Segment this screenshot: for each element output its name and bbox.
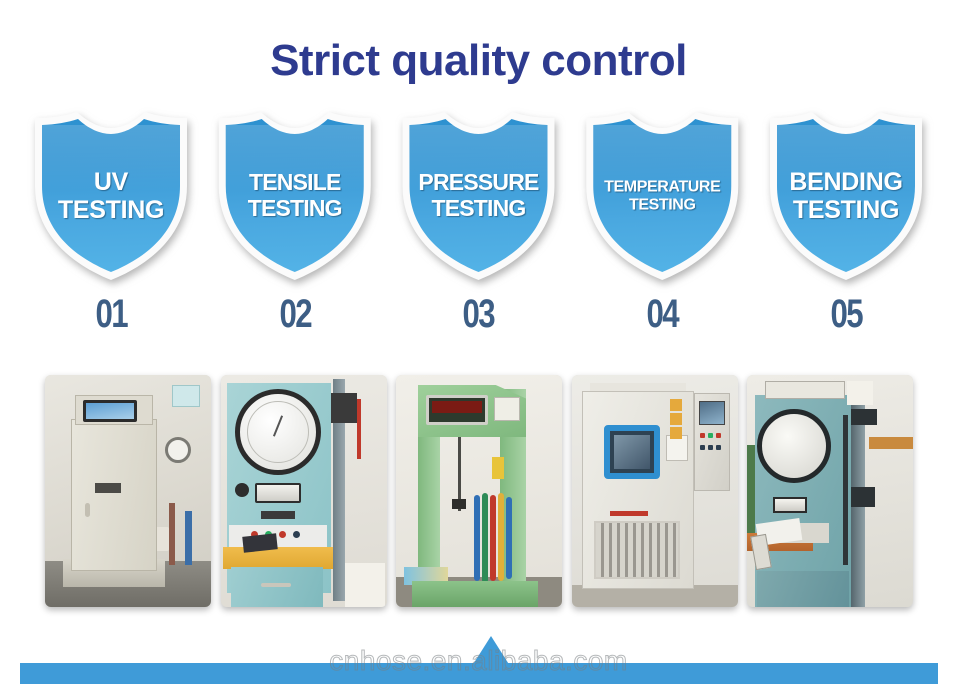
photo-temperature-testing-chamber <box>572 375 738 607</box>
shield-label-04: TEMPERATURE TESTING <box>592 178 732 214</box>
footer-triangle-icon <box>472 636 510 666</box>
photo-bending-testing-machine <box>747 375 913 607</box>
shield-badge-01[interactable]: UV TESTING <box>31 112 191 282</box>
shield-number-03: 03 <box>463 292 495 337</box>
shield-label-line1: TENSILE <box>225 170 365 196</box>
shield-label-line2: TESTING <box>409 196 549 222</box>
shield-number-04: 04 <box>646 292 678 337</box>
shield-badge-03[interactable]: PRESSURE TESTING <box>399 112 559 282</box>
shield-badge-04[interactable]: TEMPERATURE TESTING <box>582 112 742 282</box>
shield-cell-03[interactable]: PRESSURE TESTING 03 <box>390 112 568 337</box>
shield-cell-04[interactable]: TEMPERATURE TESTING 04 <box>573 112 751 337</box>
photo-tensile-testing-machine <box>221 375 387 607</box>
shield-badge-02[interactable]: TENSILE TESTING <box>215 112 375 282</box>
quality-control-banner: Strict quality control UV TESTING 01 <box>0 0 957 684</box>
shield-label-line2: TESTING <box>41 196 181 224</box>
shield-number-05: 05 <box>830 292 862 337</box>
shield-label-05: BENDING TESTING <box>776 168 916 224</box>
shield-label-line1: PRESSURE <box>409 170 549 196</box>
shield-cell-01[interactable]: UV TESTING 01 <box>22 112 200 337</box>
shield-row: UV TESTING 01 TENSILE TESTING 02 <box>22 112 935 337</box>
shield-cell-05[interactable]: BENDING TESTING 05 <box>757 112 935 337</box>
shield-label-line1: TEMPERATURE <box>592 178 732 196</box>
shield-label-line2: TESTING <box>225 196 365 222</box>
shield-number-02: 02 <box>279 292 311 337</box>
photo-row <box>45 375 913 607</box>
shield-cell-02[interactable]: TENSILE TESTING 02 <box>206 112 384 337</box>
shield-label-03: PRESSURE TESTING <box>409 170 549 222</box>
shield-label-01: UV TESTING <box>41 168 181 224</box>
photo-pressure-testing-machine <box>396 375 562 607</box>
photo-uv-testing-machine <box>45 375 211 607</box>
footer-bar <box>20 663 938 684</box>
shield-badge-05[interactable]: BENDING TESTING <box>766 112 926 282</box>
shield-label-line1: BENDING <box>776 168 916 196</box>
shield-label-02: TENSILE TESTING <box>225 170 365 222</box>
shield-label-line2: TESTING <box>776 196 916 224</box>
shield-label-line1: UV <box>41 168 181 196</box>
shield-number-01: 01 <box>95 292 127 337</box>
shield-label-line2: TESTING <box>592 196 732 214</box>
page-title: Strict quality control <box>0 36 957 86</box>
